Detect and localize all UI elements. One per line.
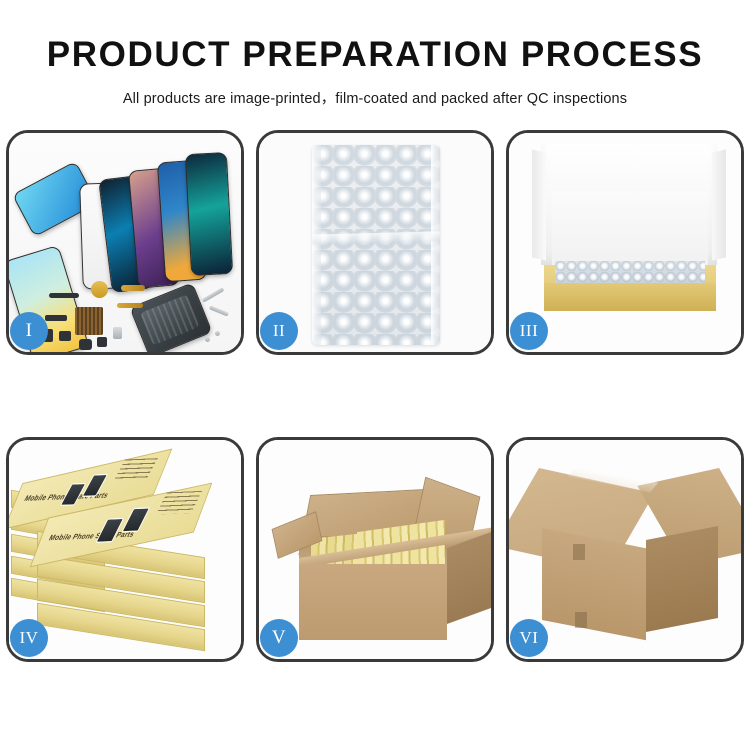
step-badge-2: II (260, 312, 298, 350)
step-panel-4[interactable]: Mobile Phone Spare Parts Mobile Phone Sp… (6, 437, 244, 662)
step-image-2: II (259, 133, 491, 352)
step-badge-3: III (510, 312, 548, 350)
box-thumbnail-front-2 (121, 507, 150, 532)
step-panel-6[interactable]: VI (506, 437, 744, 662)
step-image-1: I (9, 133, 241, 352)
step-image-5: V (259, 440, 491, 659)
step-image-3: III (509, 133, 741, 352)
bubble-edge-right (431, 145, 440, 345)
carton-front-left-face-icon (542, 528, 646, 640)
bubble-wrap-pouch-icon (312, 145, 440, 345)
phone-teardown-icon (129, 282, 212, 352)
tweezers-icon (202, 287, 225, 302)
box-spec-lines-front (156, 490, 202, 514)
flex-cable-2-icon (117, 303, 143, 308)
step-image-4: Mobile Phone Spare Parts Mobile Phone Sp… (9, 440, 241, 659)
flex-cable-1-icon (121, 285, 145, 291)
carton-front-right-face-icon (646, 526, 718, 632)
step-panel-5[interactable]: V (256, 437, 494, 662)
step-panel-1[interactable]: I (6, 130, 244, 355)
screw-2-icon (215, 331, 220, 336)
bubble-edge-left (312, 145, 321, 345)
step-badge-1: I (10, 312, 48, 350)
foam-sheet-icon (552, 191, 708, 265)
screw-1-icon (205, 337, 210, 342)
carton-seam-bottom-icon (575, 612, 587, 628)
step-badge-5: V (260, 619, 298, 657)
camera-module-icon (79, 339, 92, 350)
step-panel-3[interactable]: III (506, 130, 744, 355)
step-panel-2[interactable]: II (256, 130, 494, 355)
page-header: PRODUCT PREPARATION PROCESS All products… (0, 0, 750, 108)
earpiece-part-icon (49, 293, 79, 298)
page-title: PRODUCT PREPARATION PROCESS (0, 36, 750, 75)
carton-seam-top-icon (573, 544, 585, 560)
step-badge-4: IV (10, 619, 48, 657)
speaker-part-icon (91, 281, 108, 298)
box-spec-lines-rear (114, 458, 158, 480)
carton-right-face-icon (447, 531, 491, 623)
small-part-2-icon (59, 331, 71, 341)
step-image-6: VI (509, 440, 741, 659)
screwdriver-icon (209, 305, 229, 316)
connector-grid-part-icon (75, 307, 103, 335)
carton-front-face-icon (299, 564, 447, 640)
small-part-3-icon (97, 337, 107, 347)
kraft-box-front-icon (544, 283, 716, 311)
page-subtitle: All products are image-printed，film-coat… (0, 87, 750, 108)
bracket-part-icon (45, 315, 67, 321)
process-steps-grid: I II III (6, 130, 744, 662)
phone-display-4-icon (185, 151, 233, 275)
step-badge-6: VI (510, 619, 548, 657)
sim-tray-icon (113, 327, 122, 339)
